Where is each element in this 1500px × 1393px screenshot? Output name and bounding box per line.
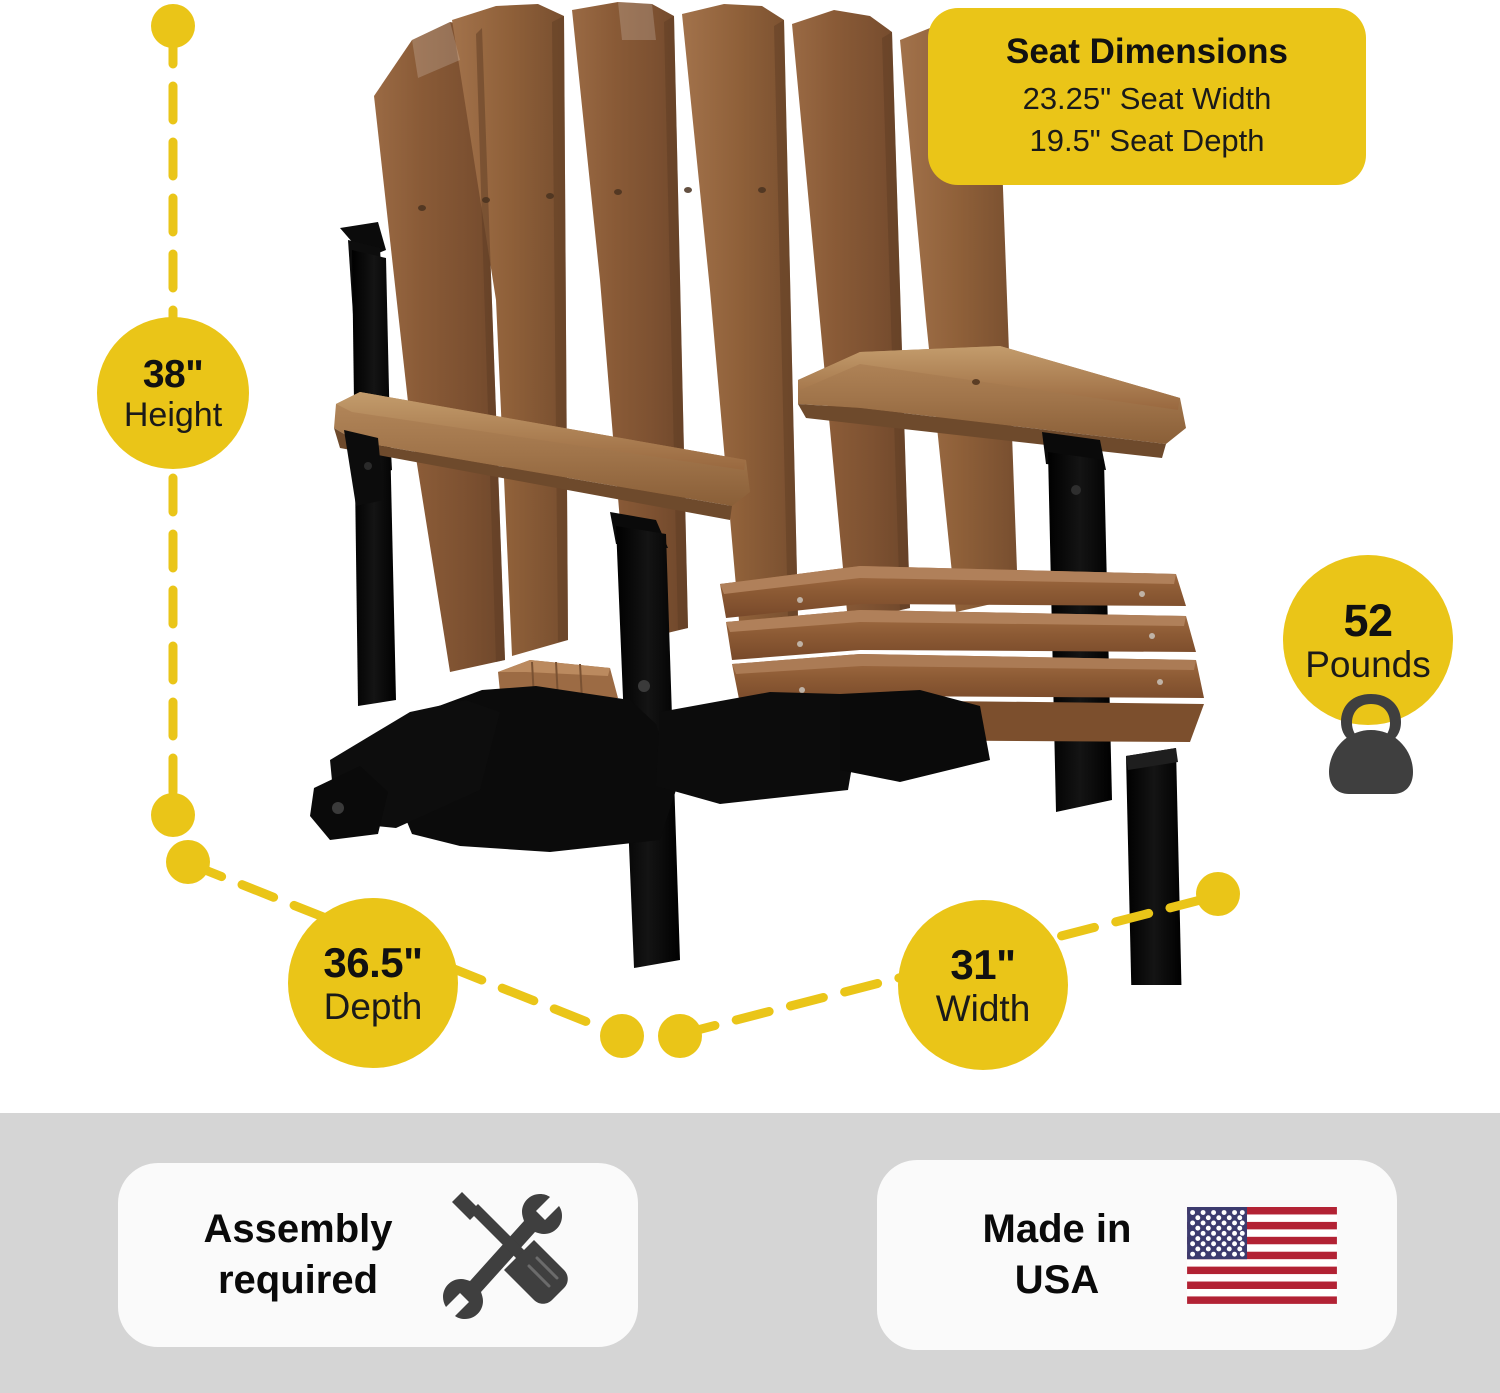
height-value: 38" [143, 355, 203, 394]
made-in-line-2: USA [932, 1255, 1182, 1306]
assembly-icon-wrap [423, 1185, 583, 1325]
width-value: 31" [950, 944, 1015, 986]
width-line-dot-left [658, 1014, 702, 1058]
made-in-usa-badge: Made in USA [877, 1160, 1397, 1350]
seat-dimensions-badge: Seat Dimensions 23.25" Seat Width 19.5" … [928, 8, 1366, 185]
depth-value: 36.5" [323, 942, 422, 984]
made-in-usa-text: Made in USA [932, 1204, 1182, 1306]
seat-dimensions-title: Seat Dimensions [1006, 32, 1288, 72]
chair-front-right-leg [1126, 748, 1182, 985]
width-callout-badge: 31" Width [898, 900, 1068, 1070]
height-callout-badge: 38" Height [97, 317, 249, 469]
assembly-line-2: required [173, 1255, 423, 1306]
product-infographic: Seat Dimensions 23.25" Seat Width 19.5" … [0, 0, 1500, 1393]
seat-width-text: 23.25" Seat Width [1023, 78, 1272, 120]
assembly-required-badge: Assembly required [118, 1163, 638, 1347]
usa-flag-wrap [1182, 1185, 1342, 1325]
us-flag-icon [1187, 1207, 1337, 1304]
wrench-screwdriver-icon [436, 1188, 571, 1323]
seat-depth-text: 19.5" Seat Depth [1029, 120, 1264, 162]
height-line-dot-bottom [151, 793, 195, 837]
depth-line-dot-right [600, 1014, 644, 1058]
width-label: Width [936, 990, 1031, 1027]
depth-line-dot-left [166, 840, 210, 884]
height-label: Height [124, 398, 222, 432]
kettlebell-icon [1325, 690, 1417, 798]
depth-label: Depth [324, 988, 423, 1025]
weight-value: 52 [1343, 598, 1392, 643]
weight-label: Pounds [1305, 646, 1431, 683]
assembly-line-1: Assembly [173, 1204, 423, 1255]
product-hero-area: Seat Dimensions 23.25" Seat Width 19.5" … [0, 0, 1500, 1113]
footer-badge-bar: Assembly required [0, 1113, 1500, 1393]
height-line-dot-top [151, 4, 195, 48]
made-in-line-1: Made in [932, 1204, 1182, 1255]
depth-callout-badge: 36.5" Depth [288, 898, 458, 1068]
assembly-required-text: Assembly required [173, 1204, 423, 1306]
